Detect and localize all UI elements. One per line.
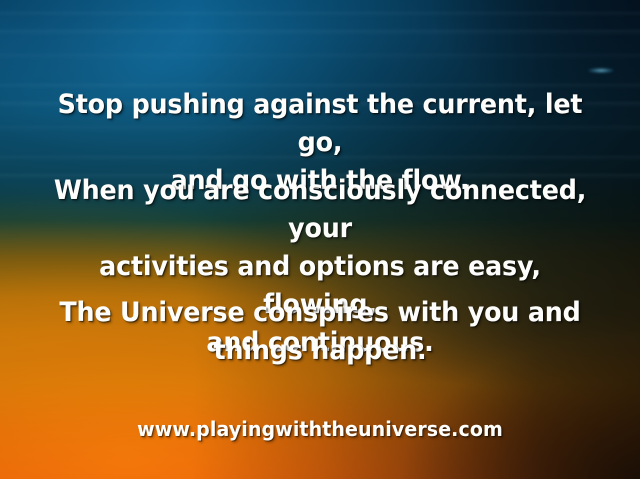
quote-line: Stop pushing against the current, let go… — [40, 86, 600, 162]
quote-line: When you are consciously connected, your — [40, 172, 600, 248]
quote-poster: Stop pushing against the current, let go… — [0, 0, 640, 479]
website-url: www.playingwiththeuniverse.com — [16, 416, 624, 442]
quote-paragraph-3: The Universe conspires with you and thin… — [19, 294, 621, 370]
quote-line: things happen. — [40, 332, 600, 370]
quote-line: The Universe conspires with you and — [40, 294, 600, 332]
poster-content: Stop pushing against the current, let go… — [0, 0, 640, 479]
